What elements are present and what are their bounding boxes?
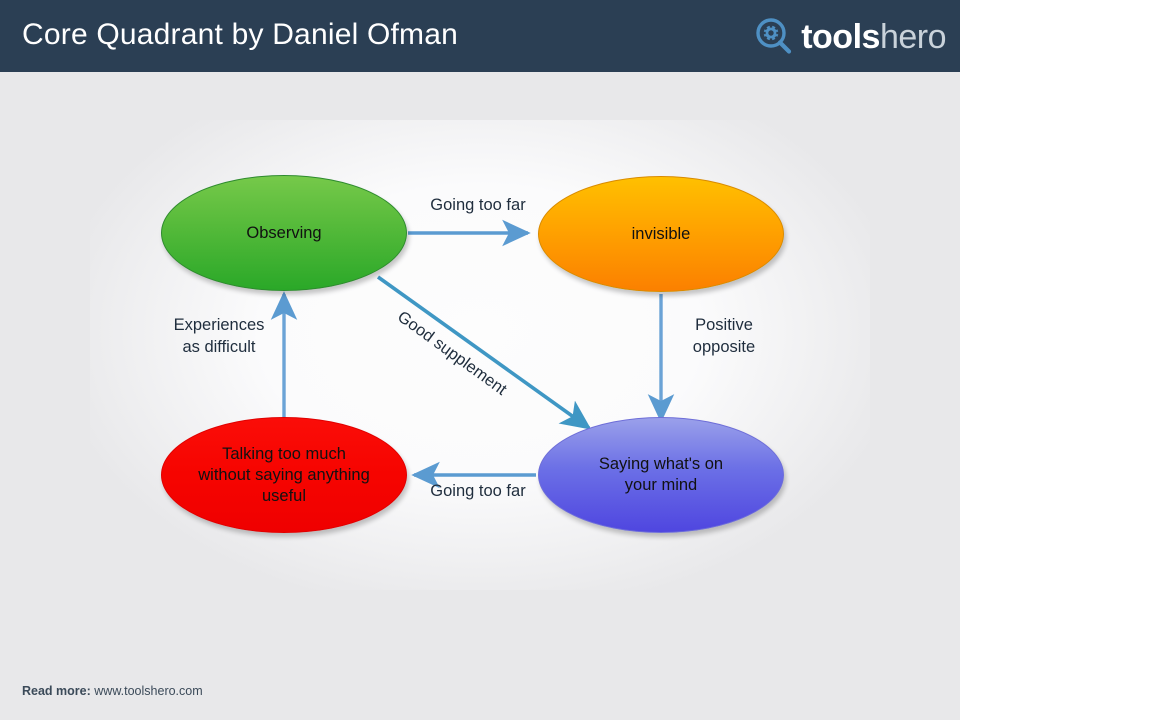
slide-canvas: Core Quadrant by Daniel Ofman <box>0 0 960 720</box>
toolshero-logo: tools hero <box>754 14 946 60</box>
edge-label-going-too-far-bottom: Going too far <box>398 480 558 502</box>
page-title: Core Quadrant by Daniel Ofman <box>22 18 458 52</box>
footer: Read more: www.toolshero.com <box>22 684 203 698</box>
footer-url[interactable]: www.toolshero.com <box>94 684 202 698</box>
node-talking-too-much-label: Talking too much without saying anything… <box>184 444 384 507</box>
node-observing-label: Observing <box>232 223 335 244</box>
node-talking-too-much[interactable]: Talking too much without saying anything… <box>161 417 407 533</box>
footer-read-more-label: Read more: <box>22 684 91 698</box>
node-saying-whats-on-your-mind[interactable]: Saying what's on your mind <box>538 417 784 533</box>
node-invisible-label: invisible <box>618 224 705 245</box>
slide-header: Core Quadrant by Daniel Ofman <box>0 0 960 72</box>
edge-label-experiences-as-difficult: Experiences as difficult <box>135 314 303 358</box>
edge-label-positive-opposite: Positive opposite <box>640 314 808 358</box>
node-saying-whats-on-your-mind-label: Saying what's on your mind <box>585 454 737 496</box>
node-observing[interactable]: Observing <box>161 175 407 291</box>
node-invisible[interactable]: invisible <box>538 176 784 292</box>
logo-word-tools: tools <box>801 20 880 54</box>
core-quadrant-diagram: Observing invisible Talking too much wit… <box>0 72 960 672</box>
arrow-observing-to-saying <box>378 277 589 428</box>
logo-word-hero: hero <box>880 20 946 54</box>
magnifier-gear-icon <box>754 17 794 57</box>
edge-label-going-too-far-top: Going too far <box>398 194 558 216</box>
